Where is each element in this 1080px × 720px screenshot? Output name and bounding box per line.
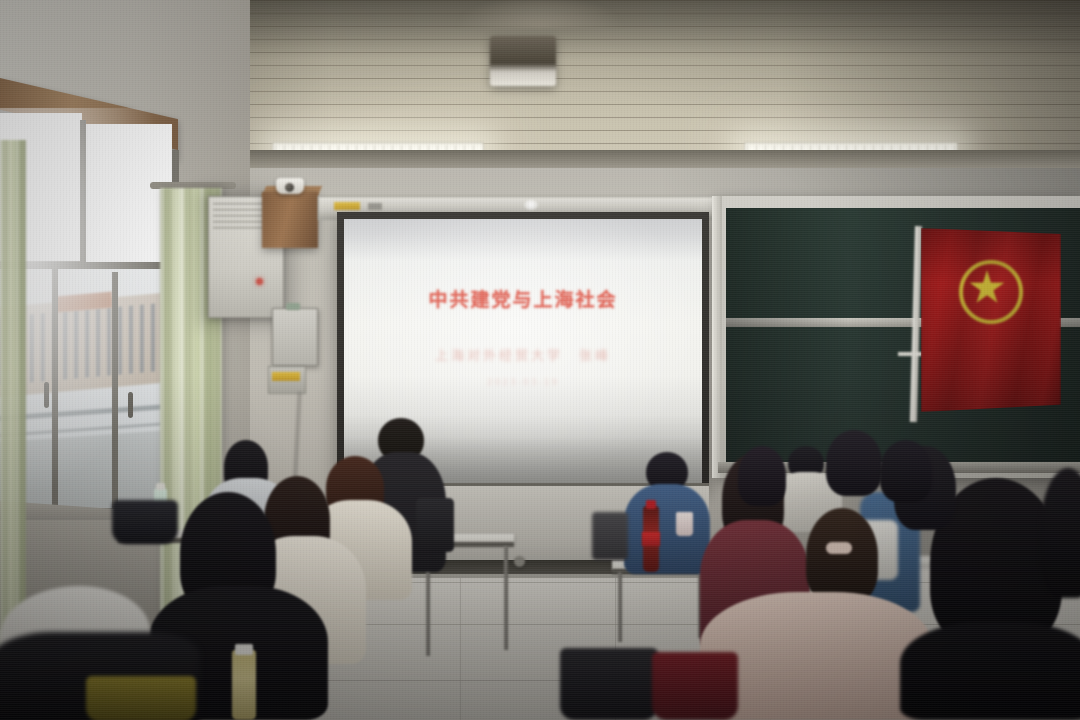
tea-bottle-cap	[235, 644, 253, 655]
red-bag[interactable]	[652, 652, 738, 720]
window-handle-1[interactable]	[44, 382, 49, 408]
backpack-floor[interactable]	[560, 648, 658, 720]
window-mullion-vertical-2	[112, 272, 118, 510]
wooden-enclosure-box	[262, 192, 318, 248]
ceiling-vent	[490, 36, 556, 86]
window-mullion-vertical-1	[52, 268, 58, 508]
classroom-photo: 中共建党与上海社会 上海对外经贸大学 张峰 2023-03-19	[0, 0, 1080, 720]
screen-base-knob	[514, 556, 525, 567]
flag-pole-bracket	[898, 352, 922, 356]
ceiling-vent-halo	[455, 0, 625, 28]
coca-cola-bottle-cap	[646, 500, 656, 509]
electrical-panel-knob[interactable]	[286, 303, 300, 310]
rail-light-reflection	[524, 200, 538, 210]
ac-indicator-led	[256, 278, 263, 285]
blackboard-left-edge	[712, 196, 722, 478]
coca-cola-label	[642, 532, 660, 546]
outside-ground	[0, 429, 180, 508]
window-mullion-upper	[80, 120, 86, 266]
slide-date: 2023-03-19	[344, 378, 702, 388]
chair-back-center	[416, 498, 454, 552]
window-view-outside	[0, 268, 180, 508]
rail-yellow-label	[334, 202, 360, 210]
water-bottle-left-cap	[156, 483, 165, 490]
electrical-panel	[272, 308, 318, 366]
electrical-panel-warning-label	[272, 372, 300, 381]
student-back-row-a	[826, 430, 882, 496]
yellow-bag[interactable]	[86, 676, 196, 720]
window-handle-2[interactable]	[128, 392, 133, 418]
paper-cup[interactable]	[676, 512, 693, 536]
wall-ceiling-joint	[160, 150, 1080, 168]
tea-bottle-foreground[interactable]	[232, 650, 256, 720]
slide-title: 中共建党与上海社会	[344, 285, 702, 312]
student-back-row-c	[738, 446, 786, 506]
slide-subtitle: 上海对外经贸大学 张峰	[344, 345, 702, 364]
curtain-far-left[interactable]	[0, 140, 26, 660]
rail-small-label	[368, 203, 382, 210]
student-back-row-b	[880, 440, 932, 502]
flag-shadow	[921, 228, 1061, 412]
hair-tie	[826, 542, 852, 554]
chair-back-right	[592, 512, 628, 560]
security-camera-lens-icon	[285, 183, 294, 192]
bag-on-desk-left[interactable]	[112, 500, 178, 544]
youth-league-flag	[921, 228, 1061, 412]
window-mullion-horizontal	[0, 262, 180, 269]
